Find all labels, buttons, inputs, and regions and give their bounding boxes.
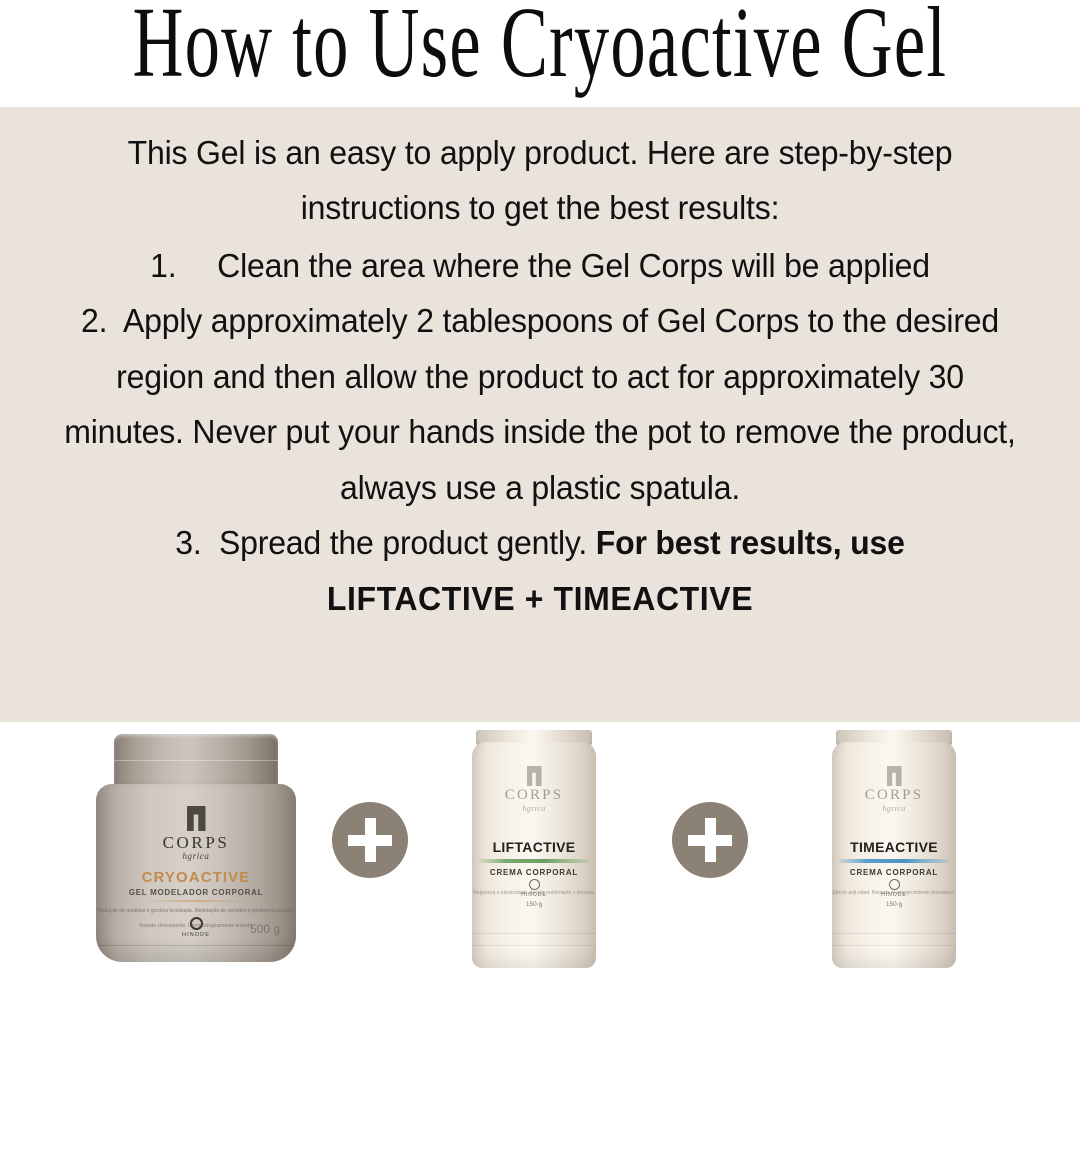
tube-body: CORPS hgrica LIFTACTIVE CREMA CORPORAL R… xyxy=(472,742,596,968)
brand-name: CORPS xyxy=(96,833,296,853)
brand-subname: hgrica xyxy=(96,851,296,861)
product-weight: 150 g xyxy=(472,901,596,908)
step-2-number: 2. xyxy=(81,302,107,339)
product-weight: 150 g xyxy=(832,901,956,908)
plus-icon-bar-v xyxy=(365,818,376,862)
step-3-emphasis: For best results, use xyxy=(596,524,905,561)
instructions-intro: This Gel is an easy to apply product. He… xyxy=(59,125,1021,236)
tube-footer: HINODE 150 g xyxy=(472,879,596,908)
accent-bar xyxy=(479,859,589,863)
product-name: CRYOACTIVE xyxy=(96,869,296,886)
brand-subname: hgrica xyxy=(472,804,596,813)
hinode-logo-icon xyxy=(529,879,540,890)
instruction-step-3: 3. Spread the product gently. For best r… xyxy=(59,515,1021,626)
product-name: LIFTACTIVE xyxy=(472,839,596,855)
corps-logo-icon xyxy=(187,806,206,831)
plus-icon xyxy=(672,802,748,878)
instruction-step-2: 2. Apply approximately 2 tablespoons of … xyxy=(59,293,1021,515)
step-1-text: Clean the area where the Gel Corps will … xyxy=(217,247,930,284)
instruction-step-1: 1.Clean the area where the Gel Corps wil… xyxy=(59,238,1021,293)
accent-bar xyxy=(839,859,949,863)
company-name: HINODE xyxy=(472,892,596,898)
step-2-text: Apply approximately 2 tablespoons of Gel… xyxy=(64,302,1015,505)
product-cryoactive-jar[interactable]: CORPS hgrica CRYOACTIVE GEL MODELADOR CO… xyxy=(96,734,296,964)
instructions-panel: This Gel is an easy to apply product. He… xyxy=(0,107,1080,722)
jar-body: CORPS hgrica CRYOACTIVE GEL MODELADOR CO… xyxy=(96,784,296,962)
corps-logo-icon xyxy=(887,766,902,786)
product-type: GEL MODELADOR CORPORAL xyxy=(96,888,296,897)
company-name: HINODE xyxy=(832,892,956,898)
accent-bar xyxy=(140,900,252,902)
product-weight: 500 g xyxy=(250,922,280,936)
product-fine-print: Redução de medidas e gordura localizada.… xyxy=(96,907,296,916)
page-title: How to Use Cryoactive Gel xyxy=(133,0,948,91)
product-liftactive-tube[interactable]: CORPS hgrica LIFTACTIVE CREMA CORPORAL R… xyxy=(472,730,596,968)
hinode-logo-icon xyxy=(889,879,900,890)
step-1-number: 1. xyxy=(150,247,176,284)
product-type: CREMA CORPORAL xyxy=(472,868,596,877)
corps-logo-icon xyxy=(527,766,542,786)
product-strip: CORPS hgrica CRYOACTIVE GEL MODELADOR CO… xyxy=(0,722,1080,1164)
hinode-logo-icon xyxy=(190,917,203,930)
brand-subname: hgrica xyxy=(832,804,956,813)
plus-icon-bar-v xyxy=(705,818,716,862)
plus-icon xyxy=(332,802,408,878)
tube-body: CORPS hgrica TIMEACTIVE CREMA CORPORAL E… xyxy=(832,742,956,968)
brand-name: CORPS xyxy=(832,787,956,804)
title-band: How to Use Cryoactive Gel xyxy=(0,0,1080,107)
brand-name: CORPS xyxy=(472,787,596,804)
jar-label: CORPS hgrica CRYOACTIVE GEL MODELADOR CO… xyxy=(96,806,296,930)
product-timeactive-tube[interactable]: CORPS hgrica TIMEACTIVE CREMA CORPORAL E… xyxy=(832,730,956,968)
step-3-text: Spread the product gently. xyxy=(219,524,587,561)
jar-lid xyxy=(114,734,278,790)
product-name: TIMEACTIVE xyxy=(832,839,956,855)
step-3-number: 3. xyxy=(175,524,201,561)
step-3-products: LIFTACTIVE + TIMEACTIVE xyxy=(59,571,1021,626)
tube-footer: HINODE 150 g xyxy=(832,879,956,908)
product-type: CREMA CORPORAL xyxy=(832,868,956,877)
infographic-page: How to Use Cryoactive Gel This Gel is an… xyxy=(0,0,1080,1164)
